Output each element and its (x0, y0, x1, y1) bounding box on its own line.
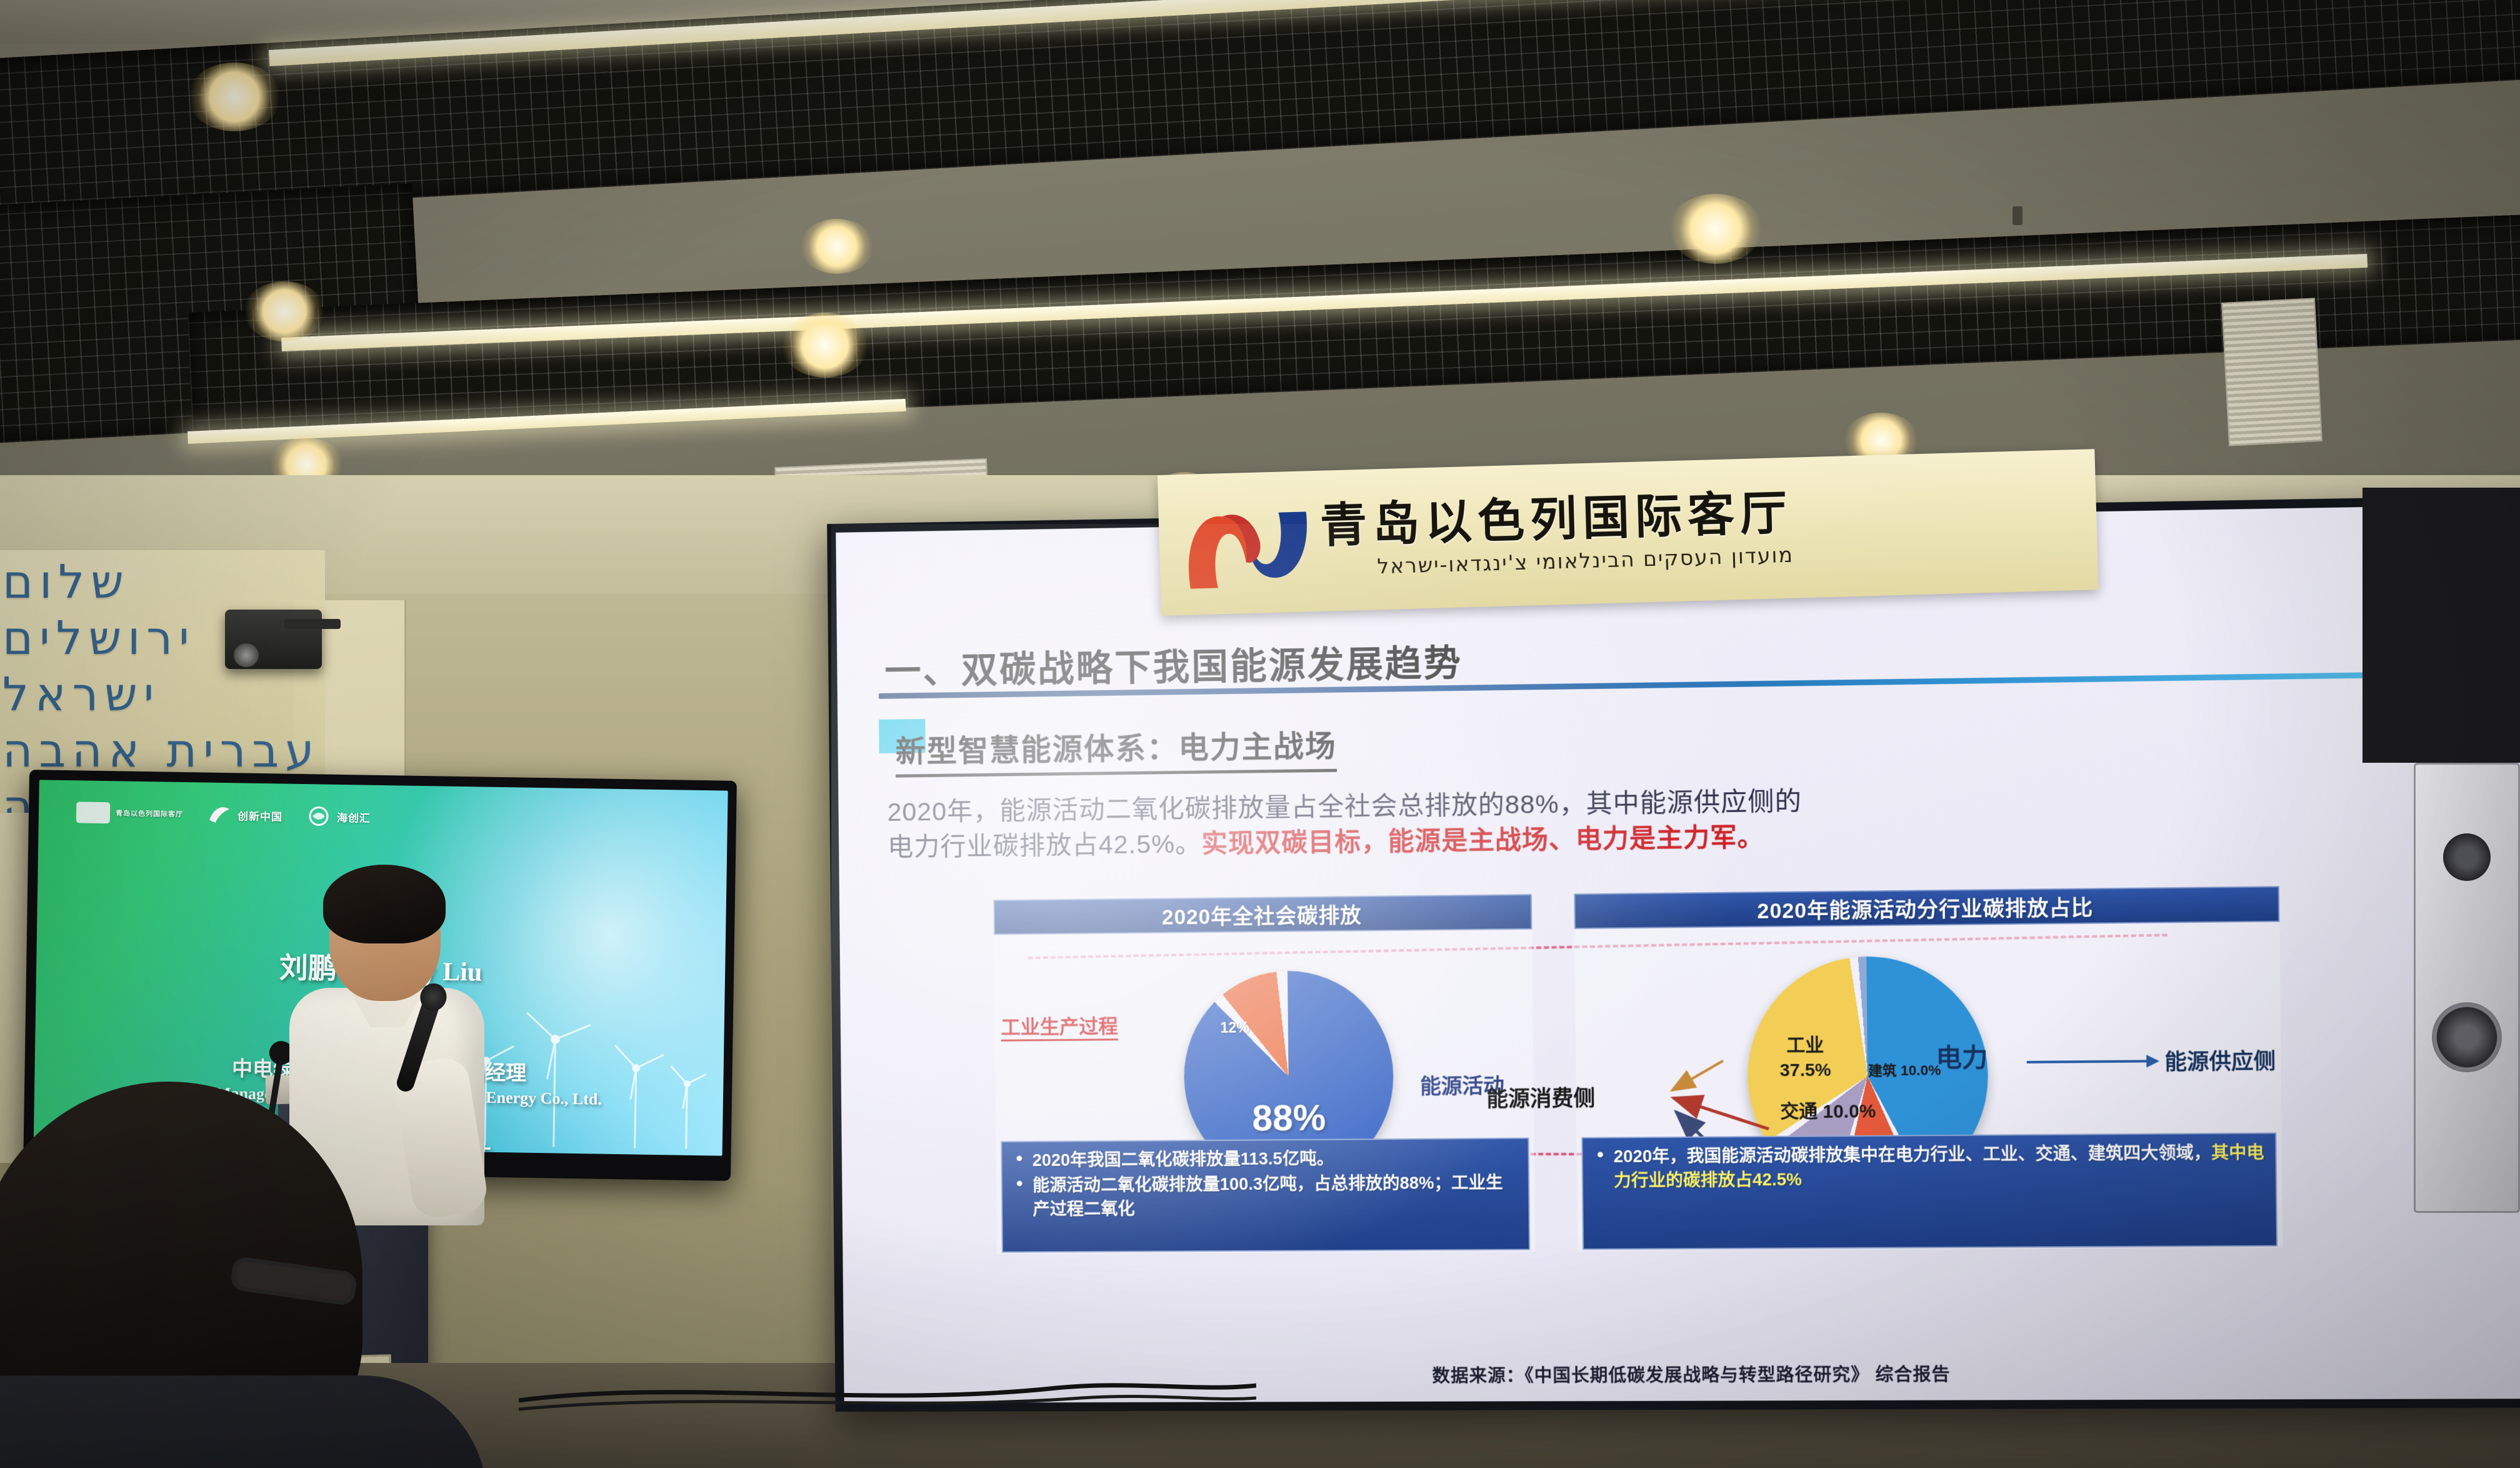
pie-chart-right: 工业 37.5% 交通 10.0% 建筑 10.0% 电力 能源供应侧 能源消费… (1574, 922, 2282, 1145)
pie-left-label-industrial: 工业生产过程 (1001, 1010, 1118, 1042)
ceiling-downlight (187, 63, 281, 131)
note-left-item-2: 能源活动二氧化碳排放量100.3亿吨，占总排放的88%；工业生产过程二氧化 (1011, 1170, 1520, 1221)
banner-title-cn: 青岛以色列国际客厅 (1319, 489, 1793, 549)
tv-sponsor-logos: 青岛以色列国际客厅 创新中国 海创汇 (76, 802, 371, 827)
ceiling-air-vent (2221, 298, 2322, 446)
note-box-right: 2020年，我国能源活动碳排放集中在电力行业、工业、交通、建筑四大领域，其中电力… (1581, 1132, 2277, 1250)
para-line-2: 其中能源供应侧的 (1586, 787, 1802, 818)
note-box-left: 2020年我国二氧化碳排放量113.5亿吨。 能源活动二氧化碳排放量100.3亿… (1001, 1137, 1530, 1252)
ceiling-downlight (781, 313, 869, 378)
pie-left-value-industrial: 12% (1220, 1019, 1249, 1037)
sprinkler-head (2012, 206, 2022, 225)
chart-card-sector-share: 2020年能源活动分行业碳排放占比 工业 37.5% 交通 10.0% 建筑 1… (1574, 886, 2282, 1251)
ceiling-downlight (800, 219, 874, 274)
slide-paragraph: 2020年，能源活动二氧化碳排放量占全社会总排放的88%，其中能源供应侧的 电力… (887, 774, 2519, 865)
para-highlight: 实现双碳目标，能源是主战场、电力是主力军。 (1201, 822, 1764, 858)
loudspeaker-cabinet (2414, 763, 2520, 1213)
supply-side-arrow (2027, 1060, 2157, 1063)
chart-title-left: 2020年全社会碳排放 (993, 894, 1532, 935)
note-right-item-1: 2020年，我国能源活动碳排放集中在电力行业、工业、交通、建筑四大领域，其中电力… (1592, 1140, 2267, 1193)
infinity-mark-logo (1176, 485, 1317, 601)
qingdao-israel-logo: 青岛以色列国际客厅 (76, 802, 184, 825)
conference-room-photo: שלום ירושלים ישראל עברית אהבה שלום תקוה … (0, 0, 2520, 1468)
presenter-hair (323, 865, 446, 943)
label-supply-side: 能源供应侧 (2164, 1043, 2276, 1076)
ceiling-downlight (1669, 194, 1762, 264)
innovation-china-logo: 创新中国 (207, 804, 283, 827)
presentation-slide: 中电绿网 GREEN 一、双碳战略下我国能源发展趋势 新型智慧能源体系：电力主战… (836, 504, 2520, 1403)
note-right-lead: 2020年，我国能源活动碳排放集中在电力行业、工业、交通、建筑四大领域， (1614, 1143, 2212, 1166)
chart-card-total-emissions: 2020年全社会碳排放 88% 工业生产过程 12% 能源活动 2020年我国二… (993, 894, 1535, 1254)
page-title: 一、双碳战略下我国能源发展趋势 (884, 633, 1462, 695)
pie-chart-left: 88% 工业生产过程 12% 能源活动 (994, 930, 1534, 1149)
audience-member-shoulder (0, 1375, 487, 1468)
ceiling-downlight (244, 281, 325, 341)
haichuanghui-logo: 海创汇 (306, 805, 371, 828)
projector-mount-arm (284, 619, 341, 629)
floor-cables (519, 1373, 1256, 1412)
venue-banner: 青岛以色列国际客厅 מועדון העסקים הבינלאומי צ'ינגד… (1157, 449, 2099, 616)
projection-screen: 中电绿网 GREEN 一、双碳战略下我国能源发展趋势 新型智慧能源体系：电力主战… (827, 495, 2520, 1412)
para-line-3: 电力行业碳排放占42.5%。 (887, 829, 1202, 862)
right-wall-dark-panel (2362, 488, 2520, 763)
para-line-1: 2020年，能源活动二氧化碳排放量占全社会总排放的88%， (887, 789, 1586, 827)
pie-right-label-power: 电力 (1936, 1037, 1987, 1075)
slide-subtitle: 新型智慧能源体系：电力主战场 (895, 721, 1337, 778)
note-left-item-1: 2020年我国二氧化碳排放量113.5亿吨。 (1011, 1145, 1519, 1173)
pie-left-center-value: 88% (1184, 1096, 1394, 1140)
pie-right-label-building: 建筑 10.0% (1868, 1059, 1941, 1080)
